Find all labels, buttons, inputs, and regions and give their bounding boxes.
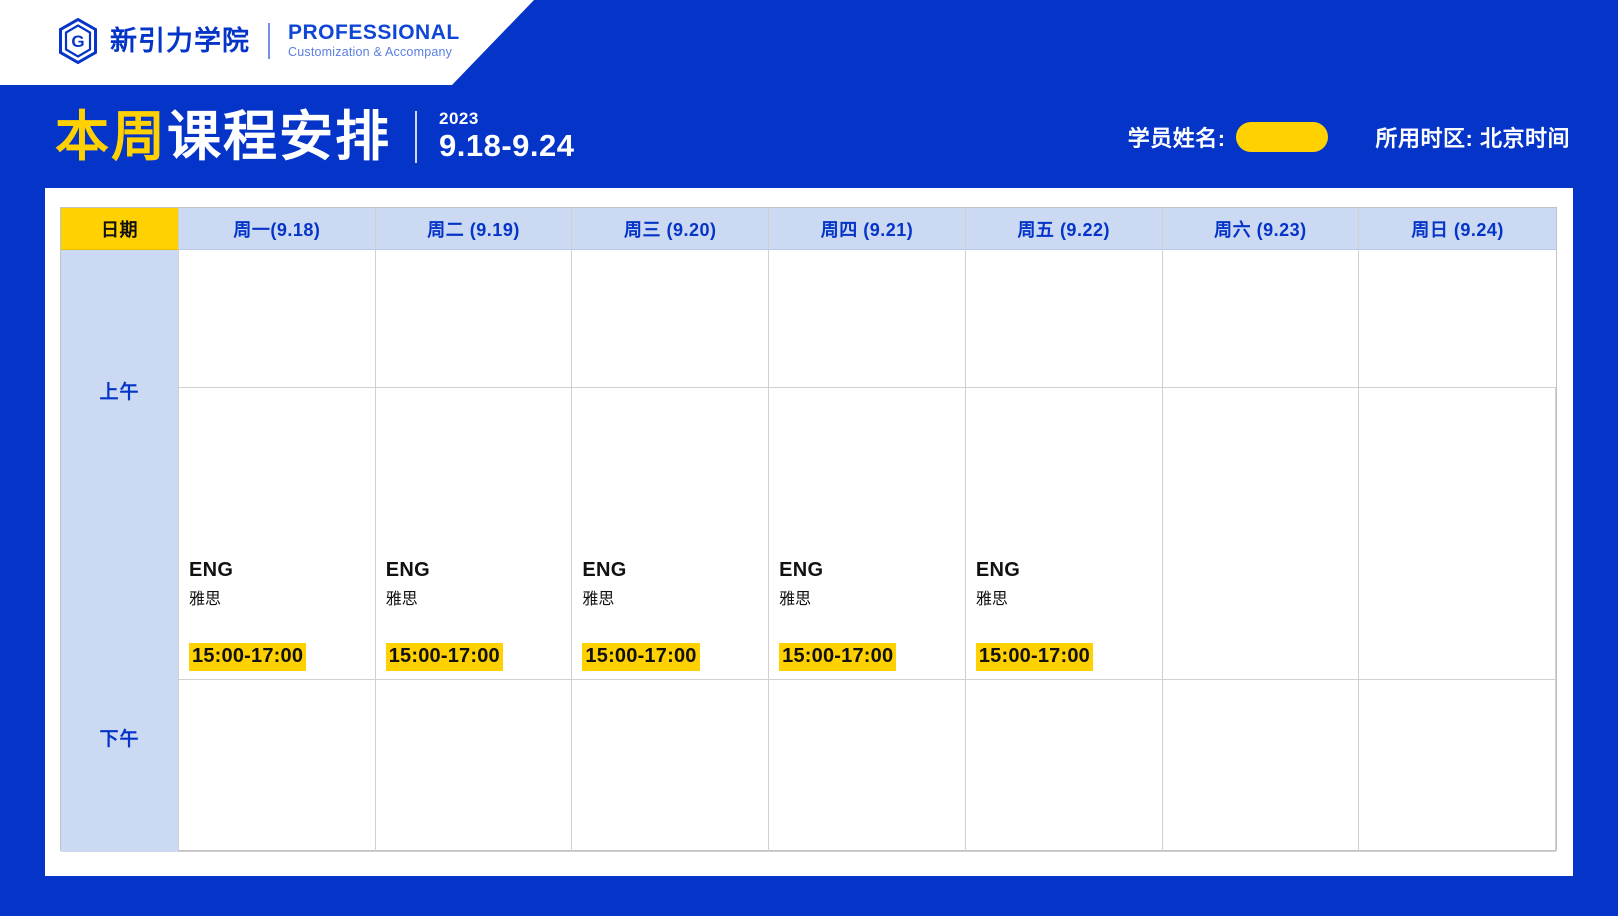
student-name-field[interactable] (1236, 122, 1328, 152)
slot-mon-bottom[interactable] (179, 680, 376, 852)
period-label-afternoon: 下午 (61, 680, 179, 852)
slot-wed-top[interactable] (572, 250, 769, 388)
page-title-highlight: 本周 (55, 107, 167, 167)
slot-sun-bottom[interactable] (1359, 680, 1556, 852)
slot-fri-top[interactable] (966, 250, 1163, 388)
page-title: 本周课程安排 2023 9.18-9.24 (55, 110, 575, 164)
column-header-mon: 周一(9.18) (179, 208, 376, 250)
course-code: ENG (386, 559, 562, 581)
slot-mon-top[interactable] (179, 250, 376, 388)
slot-tue-bottom[interactable] (376, 680, 573, 852)
course-code: ENG (189, 559, 365, 581)
page-header: 本周课程安排 2023 9.18-9.24 学员姓名: 所用时区: 北京时间 (0, 85, 1618, 188)
course-name: 雅思 (779, 591, 955, 609)
brand-divider (268, 23, 270, 59)
slot-sat-top[interactable] (1163, 250, 1360, 388)
course-time: 15:00-17:00 (779, 643, 896, 671)
course-name: 雅思 (386, 591, 562, 609)
course-code: ENG (582, 559, 758, 581)
course-time: 15:00-17:00 (189, 643, 306, 671)
student-name-label: 学员姓名: (1128, 121, 1226, 153)
slot-wed-bottom[interactable] (572, 680, 769, 852)
date-year: 2023 (439, 110, 575, 128)
course-name: 雅思 (189, 591, 365, 609)
date-range-block: 2023 9.18-9.24 (439, 110, 575, 162)
brand-name-en-sub: Customization & Accompany (288, 46, 460, 59)
column-header-tue: 周二 (9.19) (376, 208, 573, 250)
column-header-wed: 周三 (9.20) (572, 208, 769, 250)
title-separator (415, 111, 417, 163)
slot-thu-mid[interactable]: ENG 雅思 15:00-17:00 (769, 388, 966, 680)
course-time: 15:00-17:00 (582, 643, 699, 671)
slot-wed-mid[interactable]: ENG 雅思 15:00-17:00 (572, 388, 769, 680)
course-code: ENG (976, 559, 1152, 581)
slot-sat-bottom[interactable] (1163, 680, 1360, 852)
page-title-text: 本周课程安排 (55, 110, 391, 164)
course-name: 雅思 (582, 591, 758, 609)
course-time: 15:00-17:00 (976, 643, 1093, 671)
svg-text:G: G (71, 32, 84, 51)
slot-sat-mid[interactable] (1163, 388, 1360, 680)
schedule-table: 日期 周一(9.18) 周二 (9.19) 周三 (9.20) 周四 (9.21… (60, 207, 1557, 851)
slot-tue-top[interactable] (376, 250, 573, 388)
slot-sun-mid[interactable] (1359, 388, 1556, 680)
brand-name-en-main: PROFESSIONAL (288, 22, 460, 44)
slot-sun-top[interactable] (1359, 250, 1556, 388)
slot-fri-mid[interactable]: ENG 雅思 15:00-17:00 (966, 388, 1163, 680)
column-header-fri: 周五 (9.22) (966, 208, 1163, 250)
date-range: 9.18-9.24 (439, 130, 575, 163)
course-name: 雅思 (976, 591, 1152, 609)
header-meta: 学员姓名: 所用时区: 北京时间 (1128, 121, 1570, 153)
slot-tue-mid[interactable]: ENG 雅思 15:00-17:00 (376, 388, 573, 680)
course-time: 15:00-17:00 (386, 643, 503, 671)
timezone-label: 所用时区: 北京时间 (1376, 121, 1570, 153)
brand-logo: G 新引力学院 PROFESSIONAL Customization & Acc… (58, 18, 460, 64)
course-code: ENG (779, 559, 955, 581)
table-corner-header: 日期 (61, 208, 179, 250)
slot-thu-bottom[interactable] (769, 680, 966, 852)
logo-band: G 新引力学院 PROFESSIONAL Customization & Acc… (0, 0, 540, 85)
column-header-sun: 周日 (9.24) (1359, 208, 1556, 250)
slot-mon-mid[interactable]: ENG 雅思 15:00-17:00 (179, 388, 376, 680)
slot-fri-bottom[interactable] (966, 680, 1163, 852)
page-title-rest: 课程安排 (167, 107, 391, 167)
column-header-sat: 周六 (9.23) (1163, 208, 1360, 250)
brand-name-cn: 新引力学院 (110, 28, 250, 55)
slot-thu-top[interactable] (769, 250, 966, 388)
period-label-morning: 上午 (61, 250, 179, 680)
column-header-thu: 周四 (9.21) (769, 208, 966, 250)
brand-name-en: PROFESSIONAL Customization & Accompany (288, 22, 460, 59)
hexagon-g-logo-icon: G (58, 18, 98, 64)
